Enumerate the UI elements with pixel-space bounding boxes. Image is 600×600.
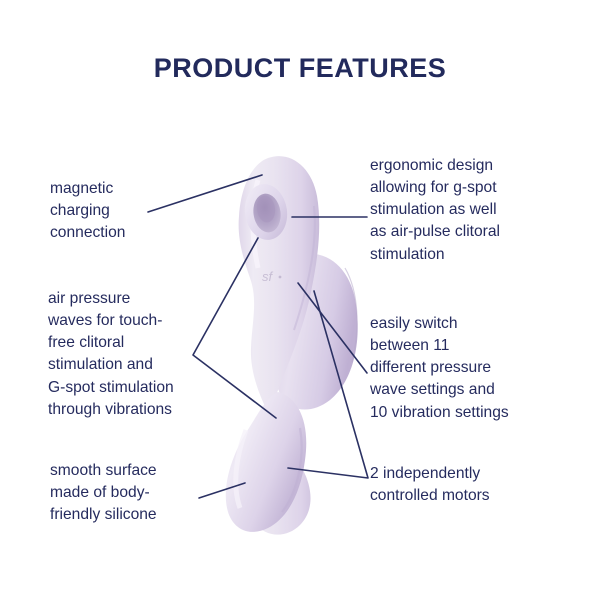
callout-magnetic-charging-connection: magnetic charging connection <box>50 178 220 244</box>
callout-pressure-wave-settings: easily switch between 11 different press… <box>370 313 570 424</box>
callout-air-pressure-waves: air pressure waves for touch- free clito… <box>48 288 248 421</box>
callout-ergonomic-design: ergonomic design allowing for g-spot sti… <box>370 155 570 266</box>
callout-smooth-surface-silicone: smooth surface made of body- friendly si… <box>50 460 230 526</box>
product-features-infographic: PRODUCT FEATURES <box>0 0 600 600</box>
svg-text:sf: sf <box>262 269 274 284</box>
callout-independent-motors: 2 independently controlled motors <box>370 463 570 507</box>
